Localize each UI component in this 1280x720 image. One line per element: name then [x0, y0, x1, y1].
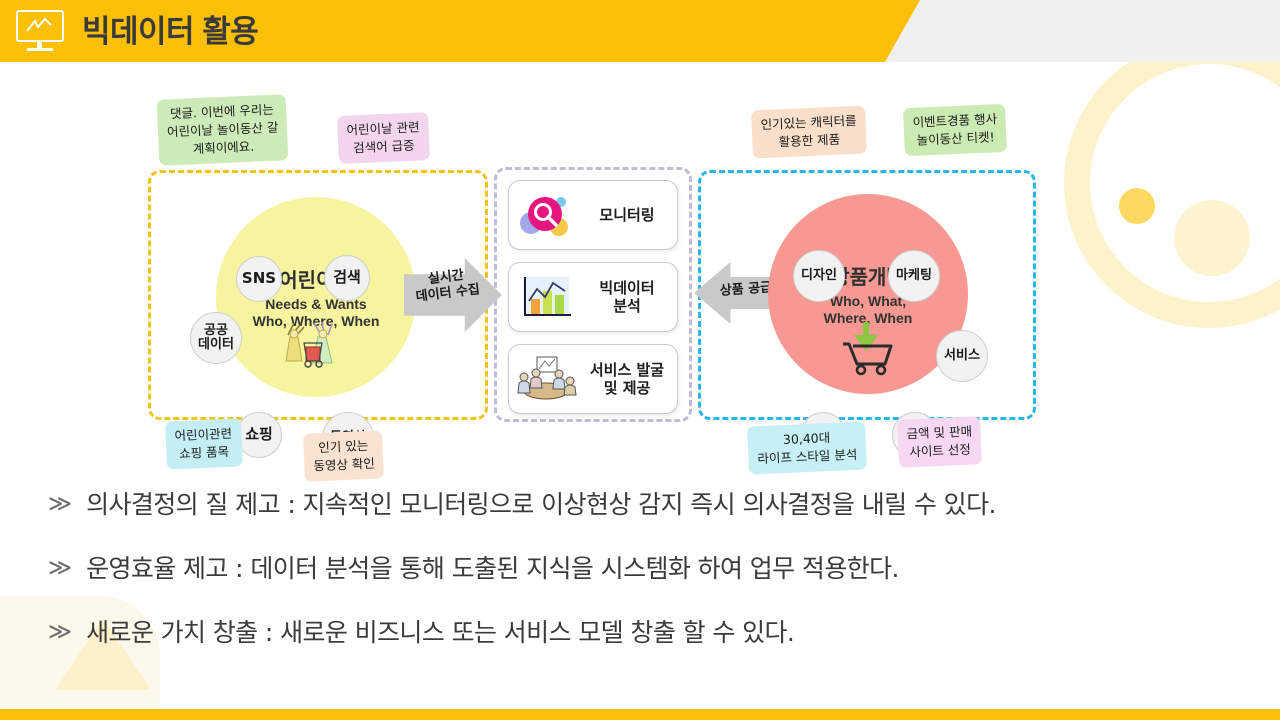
card-label-line2: 및 제공 — [604, 379, 651, 397]
bigdata-flow-diagram: 어린이날 Needs & Wants Who, Where, When SNS … — [0, 62, 1280, 492]
monitor-chart-icon — [16, 10, 64, 52]
callout-popular-video-check: 인기 있는 동영상 확인 — [303, 430, 385, 482]
card-label: 모니터링 — [583, 206, 671, 224]
bullet-marker: ≫ — [48, 492, 72, 515]
bubble-design[interactable]: 디자인 — [793, 250, 845, 302]
bubble-shopping[interactable]: 쇼핑 — [236, 412, 282, 458]
bubble-label: 디자인 — [801, 269, 837, 283]
callout-popular-character-product: 인기있는 캐릭터를 활용한 제품 — [751, 106, 867, 159]
card-label-line1: 서비스 발굴 — [590, 361, 664, 379]
callout-search-surge: 어린이날 관련 검색어 급증 — [337, 112, 430, 164]
callout-age-lifestyle-analysis: 30,40대 라이프 스타일 분석 — [747, 421, 867, 474]
card-label-line1: 빅데이터 — [599, 279, 654, 297]
meeting-people-icon — [515, 353, 577, 405]
shopping-cart-icon — [833, 322, 903, 376]
bullet-list: ≫ 의사결정의 질 제고 : 지속적인 모니터링으로 이상현상 감지 즉시 의사… — [0, 492, 1280, 684]
card-label-line2: 분석 — [613, 297, 641, 315]
list-item: ≫ 운영효율 제고 : 데이터 분석을 통해 도출된 지식을 시스템화 하여 업… — [0, 556, 1280, 620]
bubble-sns[interactable]: SNS — [236, 256, 282, 302]
bubble-label: 쇼핑 — [245, 427, 273, 443]
bubble-service[interactable]: 서비스 — [936, 330, 988, 382]
bubble-label: 마케팅 — [896, 269, 932, 283]
bullet-text: 새로운 가치 창출 : 새로운 비즈니스 또는 서비스 모델 창출 할 수 있다… — [86, 620, 794, 645]
bullet-marker: ≫ — [48, 620, 72, 643]
callout-line: 검색어 급증 — [347, 137, 421, 158]
card-label: 빅데이터 분석 — [583, 279, 671, 315]
callout-kids-shopping-items: 어린이관련 쇼핑 품목 — [165, 418, 243, 469]
callout-line: 동영상 확인 — [313, 455, 375, 476]
footer-bar — [0, 709, 1280, 720]
callout-line: 쇼핑 품목 — [175, 443, 233, 464]
list-item: ≫ 새로운 가치 창출 : 새로운 비즈니스 또는 서비스 모델 창출 할 수 … — [0, 620, 1280, 684]
page-title: 빅데이터 활용 — [82, 16, 258, 47]
bubble-public-data[interactable]: 공공 데이터 — [190, 312, 242, 364]
card-monitoring[interactable]: 모니터링 — [508, 180, 678, 250]
callout-line: 놀이동산 티켓! — [913, 128, 998, 150]
bubble-label: 서비스 — [944, 349, 980, 363]
callout-line: 사이트 선정 — [907, 441, 973, 462]
children-illustration — [278, 321, 354, 379]
bubble-label: 공공 데이터 — [198, 324, 234, 351]
callout-price-and-sales-site: 금액 및 판매 사이트 선정 — [897, 416, 982, 468]
card-label: 서비스 발굴 및 제공 — [583, 361, 671, 397]
card-label-line1: 모니터링 — [599, 206, 654, 224]
bubble-label: SNS — [242, 271, 276, 287]
callout-sns-comment: 댓글. 이번에 우리는 어린이날 놀이동산 갈 계획이에요. — [157, 94, 289, 166]
bullet-text: 운영효율 제고 : 데이터 분석을 통해 도출된 지식을 시스템화 하여 업무 … — [86, 556, 899, 581]
slide-header: 빅데이터 활용 — [0, 0, 1280, 62]
list-item: ≫ 의사결정의 질 제고 : 지속적인 모니터링으로 이상현상 감지 즉시 의사… — [0, 492, 1280, 556]
bullet-text: 의사결정의 질 제고 : 지속적인 모니터링으로 이상현상 감지 즉시 의사결정… — [86, 492, 996, 517]
bubble-marketing[interactable]: 마케팅 — [888, 250, 940, 302]
bubble-search[interactable]: 검색 — [324, 255, 370, 301]
hub-subtitle-1: Who, What, — [830, 293, 906, 310]
bar-line-chart-icon — [515, 271, 577, 323]
card-service-discovery[interactable]: 서비스 발굴 및 제공 — [508, 344, 678, 414]
bullet-marker: ≫ — [48, 556, 72, 579]
callout-line: 라이프 스타일 분석 — [757, 446, 858, 468]
bubble-label: 검색 — [333, 270, 361, 286]
bubble-label-line2: 데이터 — [198, 337, 234, 352]
header-content: 빅데이터 활용 — [0, 0, 258, 62]
callout-event-gift-ticket: 이벤트경품 행사 놀이동산 티켓! — [903, 104, 1007, 157]
card-bigdata-analysis[interactable]: 빅데이터 분석 — [508, 262, 678, 332]
magnifier-bubbles-icon — [515, 189, 577, 241]
